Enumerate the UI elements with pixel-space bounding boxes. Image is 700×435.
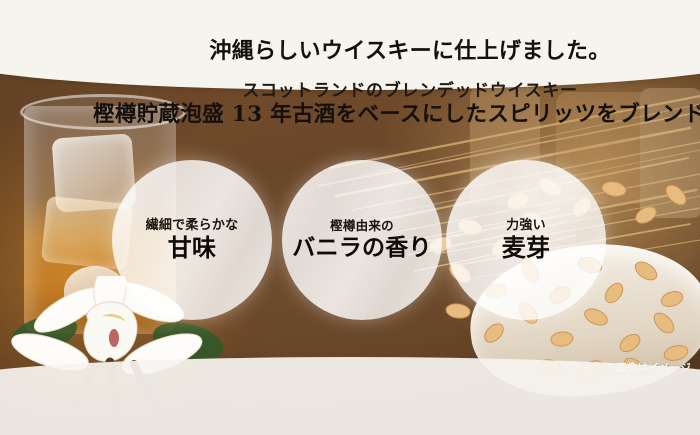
footer-band <box>0 357 700 435</box>
product-feature-banner: スコットランドのブレンデッドウイスキー 樫樽貯蔵泡盛 13 年古酒をベースにした… <box>0 0 700 435</box>
feature-subtitle: 繊細で柔らかな <box>146 219 239 233</box>
feature-subtitle: 樫樽由来の <box>330 219 394 233</box>
footer-text-block: 沖縄らしいウイスキーに仕上げました。 <box>60 20 700 78</box>
feature-circle-vanilla-aroma: 樫樽由来の バニラの香り <box>282 160 442 320</box>
feature-title: バニラの香り <box>292 235 431 260</box>
footer-tagline: 沖縄らしいウイスキーに仕上げました。 <box>209 33 610 65</box>
feature-circle-sweetness: 繊細で柔らかな 甘味 <box>112 160 272 320</box>
feature-circle-malt: 力強い 麦芽 <box>446 160 606 320</box>
feature-subtitle: 力強い <box>506 219 546 233</box>
feature-title: 甘味 <box>168 235 216 261</box>
feature-title: 麦芽 <box>502 235 550 261</box>
